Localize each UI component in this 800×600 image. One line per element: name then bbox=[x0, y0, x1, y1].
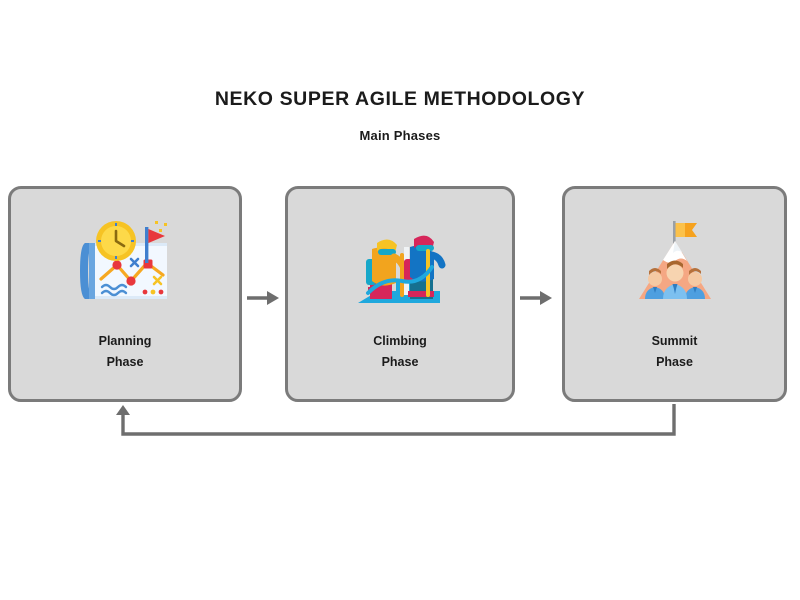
arrow-right-icon-climbing-to-summit bbox=[518, 286, 562, 310]
phase-card-planning[interactable]: Planning Phase bbox=[8, 186, 242, 402]
phase-label-climbing-line1: Climbing bbox=[373, 334, 426, 348]
two-climbers-icon bbox=[288, 209, 512, 321]
phase-label-summit-line2: Phase bbox=[565, 352, 784, 373]
phase-label-planning-line2: Phase bbox=[11, 352, 239, 373]
phase-card-climbing[interactable]: Climbing Phase bbox=[285, 186, 515, 402]
phase-label-planning-line1: Planning bbox=[99, 334, 152, 348]
phase-label-summit: Summit Phase bbox=[565, 331, 784, 373]
page-subtitle: Main Phases bbox=[0, 127, 800, 145]
phase-label-climbing-line2: Phase bbox=[288, 352, 512, 373]
page-title: NEKO SUPER AGILE METHODOLOGY bbox=[0, 86, 800, 112]
phase-label-summit-line1: Summit bbox=[652, 334, 698, 348]
diagram-canvas: NEKO SUPER AGILE METHODOLOGY Main Phases bbox=[0, 0, 800, 600]
planning-blueprint-clock-icon bbox=[11, 209, 239, 321]
feedback-loop-arrow-icon bbox=[100, 398, 700, 450]
phase-label-climbing: Climbing Phase bbox=[288, 331, 512, 373]
mountain-summit-flag-team-icon bbox=[565, 209, 784, 321]
phase-label-planning: Planning Phase bbox=[11, 331, 239, 373]
arrow-right-icon-planning-to-climbing bbox=[245, 286, 289, 310]
phase-card-summit[interactable]: Summit Phase bbox=[562, 186, 787, 402]
